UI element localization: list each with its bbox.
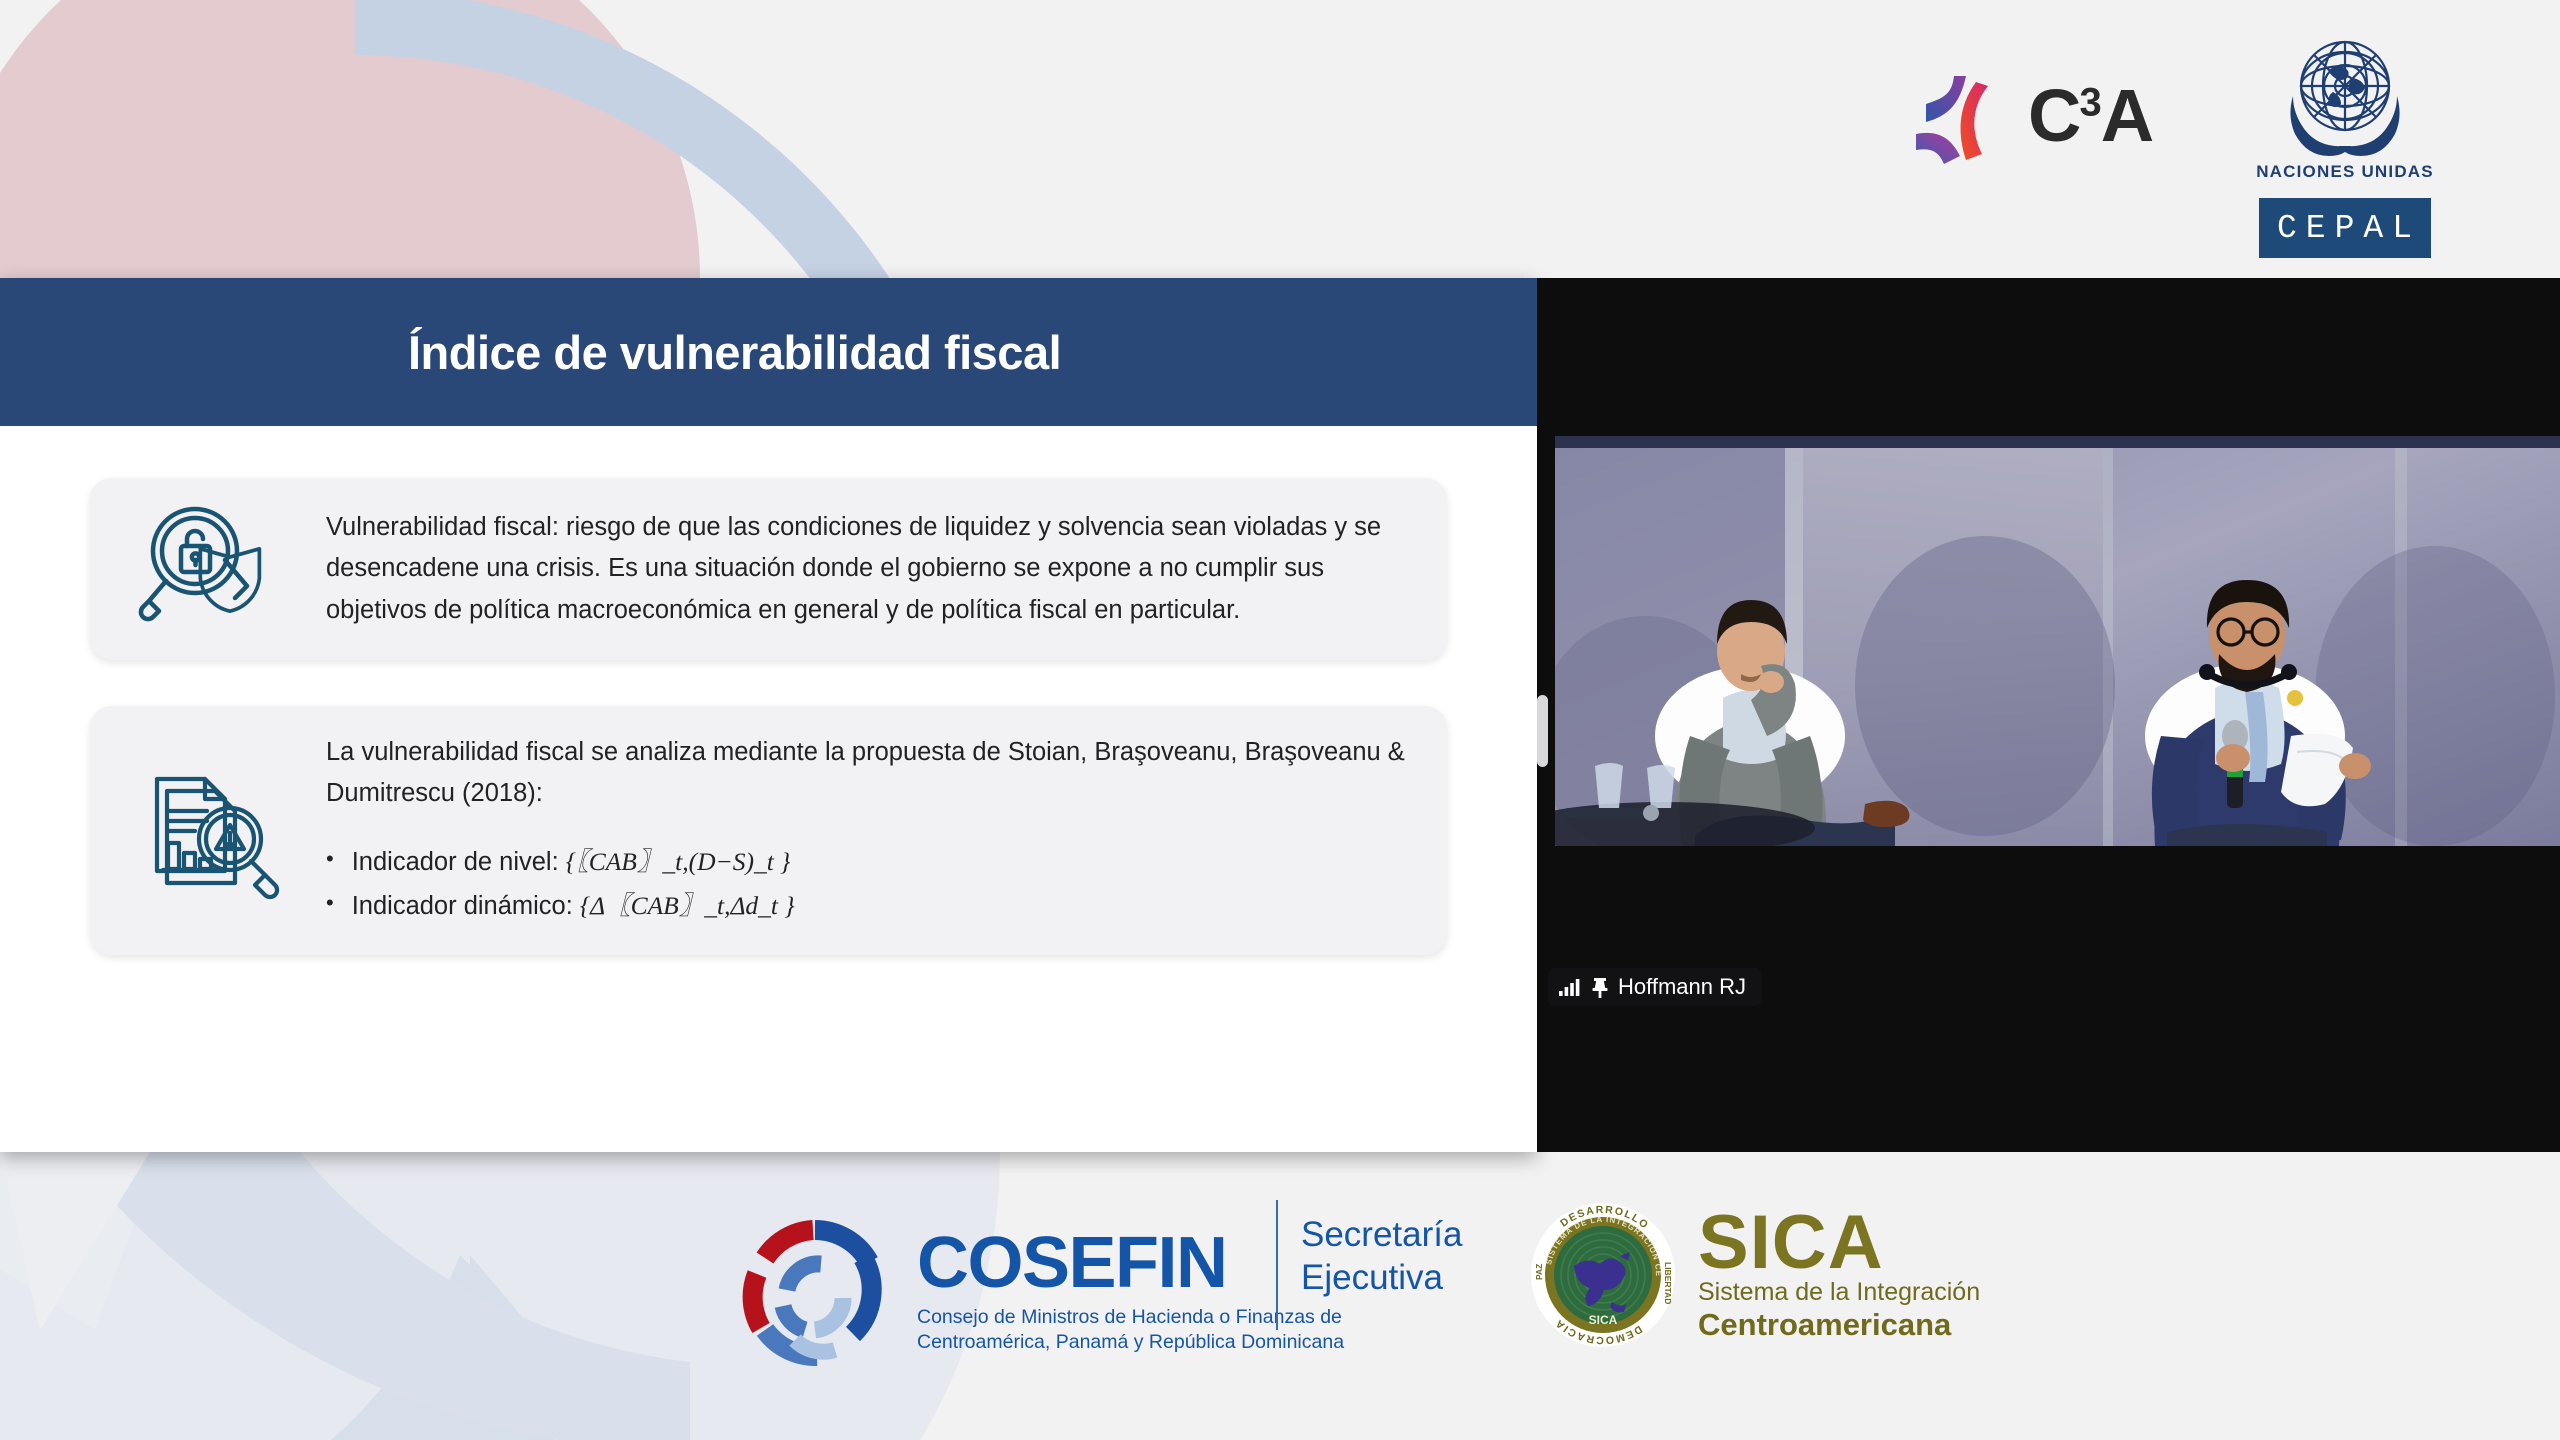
- bottom-logo-bar: COSEFIN Consejo de Ministros de Hacienda…: [0, 1152, 2560, 1440]
- logo-divider: [1276, 1200, 1278, 1330]
- indicator-list: • Indicador de nivel: {〖CAB〗_t,(D−S)_t }…: [326, 841, 1413, 928]
- info-card-definition: Vulnerabilidad fiscal: riesgo de que las…: [90, 478, 1447, 660]
- panel-resize-handle[interactable]: [1537, 695, 1548, 767]
- slide-header: Índice de vulnerabilidad fiscal: [0, 278, 1537, 426]
- list-item: • Indicador dinámico: {Δ〖CAB〗_t,Δd_t }: [326, 885, 1413, 927]
- participant-name: Hoffmann RJ: [1618, 974, 1746, 1000]
- indicator-text: Indicador de nivel: {〖CAB〗_t,(D−S)_t }: [352, 841, 791, 883]
- sica-seal-icon: DESARROLLO DEMOCRACIA SISTEMA DE LA INTE…: [1528, 1200, 1678, 1350]
- participant-name-badge: Hoffmann RJ: [1548, 968, 1762, 1006]
- pin-icon: [1591, 976, 1609, 998]
- document-chart-warning-icon: [124, 761, 300, 901]
- cosefin-logo: COSEFIN Consejo de Ministros de Hacienda…: [735, 1212, 1344, 1372]
- cosefin-mark-icon: [735, 1212, 895, 1372]
- info-card-methodology: La vulnerabilidad fiscal se analiza medi…: [90, 706, 1447, 955]
- card-text: Vulnerabilidad fiscal: riesgo de que las…: [326, 507, 1413, 631]
- page-title: Índice de vulnerabilidad fiscal: [408, 325, 1061, 380]
- signal-bars-icon: [1558, 977, 1582, 997]
- svg-text:PAZ: PAZ: [1534, 1264, 1544, 1280]
- svg-text:LIBERTAD: LIBERTAD: [1663, 1262, 1673, 1304]
- svg-text:SICA: SICA: [1589, 1313, 1618, 1327]
- methodology-paragraph: La vulnerabilidad fiscal se analiza medi…: [326, 732, 1413, 815]
- presentation-slide: Índice de vulnerabilidad fiscal: [0, 278, 1537, 1152]
- bullet-icon: •: [326, 841, 334, 883]
- indicator-formula: {Δ〖CAB〗_t,Δd_t }: [580, 891, 795, 920]
- indicator-text: Indicador dinámico: {Δ〖CAB〗_t,Δd_t }: [352, 885, 795, 927]
- sica-subtitle-2: Centroamericana: [1698, 1308, 1980, 1342]
- video-panel[interactable]: [1537, 278, 2560, 1152]
- sica-subtitle-1: Sistema de la Integración: [1698, 1278, 1980, 1308]
- cosefin-subtitle: Consejo de Ministros de Hacienda o Finan…: [917, 1305, 1344, 1355]
- definition-paragraph: Vulnerabilidad fiscal: riesgo de que las…: [326, 507, 1413, 631]
- indicator-formula: {〖CAB〗_t,(D−S)_t }: [566, 847, 791, 876]
- magnifier-lock-shield-icon: [124, 504, 300, 634]
- list-item: • Indicador de nivel: {〖CAB〗_t,(D−S)_t }: [326, 841, 1413, 883]
- sica-logo: DESARROLLO DEMOCRACIA SISTEMA DE LA INTE…: [1528, 1200, 1980, 1350]
- slide-body: Vulnerabilidad fiscal: riesgo de que las…: [0, 426, 1537, 955]
- video-feed: [1555, 436, 2560, 846]
- cosefin-wordmark: COSEFIN: [917, 1229, 1344, 1298]
- card-text: La vulnerabilidad fiscal se analiza medi…: [326, 732, 1413, 929]
- sica-wordmark: SICA: [1698, 1208, 1980, 1278]
- secretaria-ejecutiva-label: Secretaría Ejecutiva: [1301, 1214, 1462, 1299]
- bullet-icon: •: [326, 885, 334, 927]
